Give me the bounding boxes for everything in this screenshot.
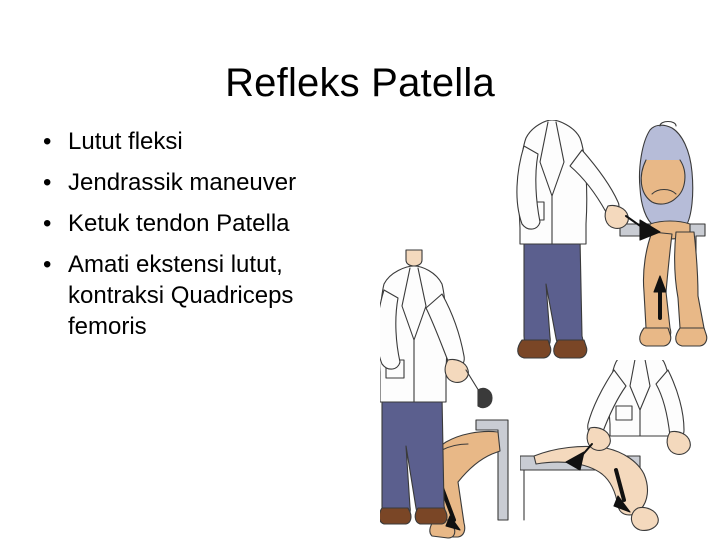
bullet-marker-icon: • (43, 208, 51, 239)
list-item-label: Jendrassik maneuver (68, 169, 296, 196)
bullet-marker-icon: • (43, 167, 51, 198)
list-item: • Amati ekstensi lutut, kontraksi Quadri… (36, 249, 366, 342)
supine-patient-knee-tap-illustration (520, 360, 715, 540)
seated-patient-knee-tap-illustration (380, 220, 520, 540)
page-title: Refleks Patella (0, 61, 720, 106)
bullet-marker-icon: • (43, 249, 51, 280)
slide: Refleks Patella • Lutut fleksi • Jendras… (0, 0, 720, 540)
bullet-marker-icon: • (43, 126, 51, 157)
list-item-label: Amati ekstensi lutut, kontraksi Quadrice… (68, 251, 293, 340)
list-item: • Jendrassik maneuver (36, 167, 366, 198)
illustration-group (370, 110, 715, 535)
bullet-list: • Lutut fleksi • Jendrassik maneuver • K… (36, 126, 366, 352)
list-item-label: Lutut fleksi (68, 128, 183, 155)
list-item: • Ketuk tendon Patella (36, 208, 366, 239)
list-item: • Lutut fleksi (36, 126, 366, 157)
list-item-label: Ketuk tendon Patella (68, 210, 290, 237)
standing-jendrassik-maneuver-illustration (500, 120, 715, 375)
